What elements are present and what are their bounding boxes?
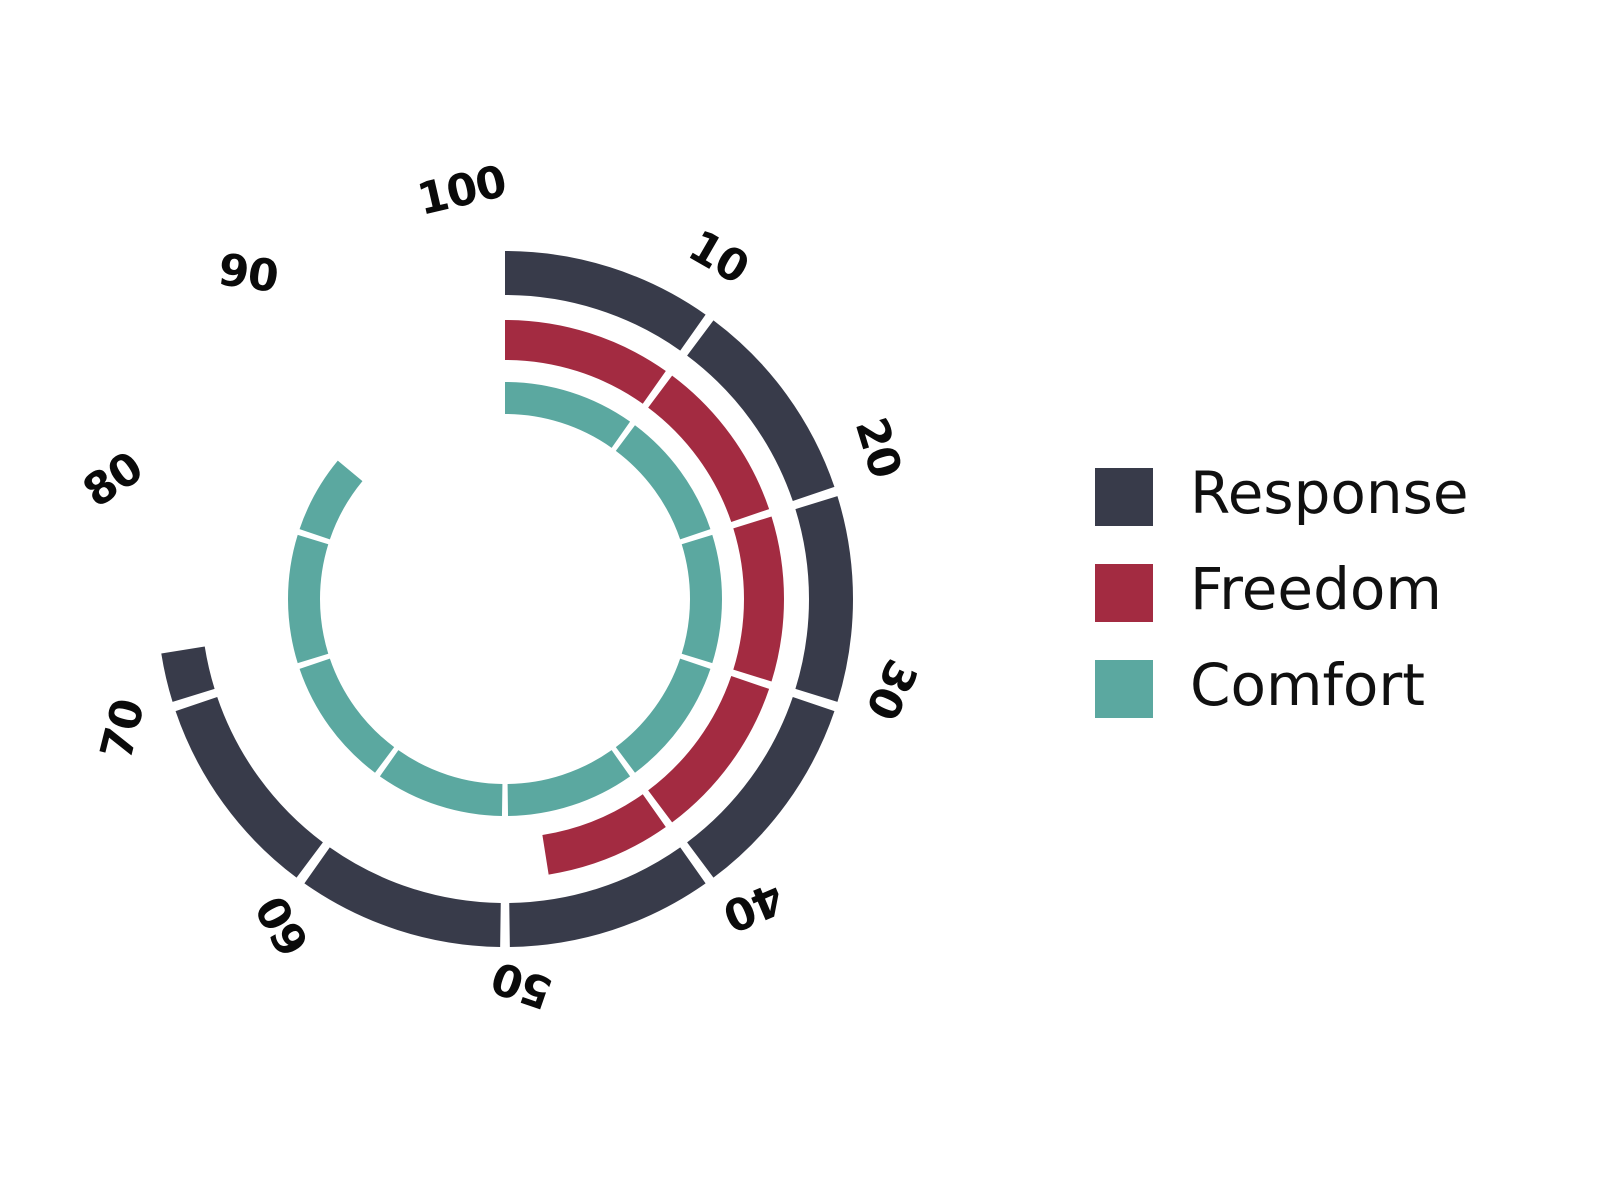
- angular-axis-tick-labels: 100102030405060708090: [74, 156, 927, 1018]
- legend-label-response: Response: [1190, 459, 1469, 527]
- axis-tick-label-60: 60: [247, 888, 320, 965]
- axis-tick-label-90: 90: [215, 244, 281, 303]
- radial-bar-segment[interactable]: [509, 847, 705, 947]
- legend-swatch-response: [1095, 468, 1153, 526]
- axis-tick-label-10: 10: [680, 221, 757, 295]
- radial-bar-segment[interactable]: [505, 382, 630, 448]
- radial-bar-segment[interactable]: [380, 750, 503, 816]
- radial-bar-segment[interactable]: [300, 461, 363, 540]
- radial-bar-segment[interactable]: [795, 496, 853, 702]
- axis-tick-label-40: 40: [716, 871, 790, 941]
- radial-bar-segment[interactable]: [733, 516, 784, 681]
- chart-legend: ResponseFreedomComfort: [1095, 459, 1469, 719]
- axis-tick-label-100: 100: [413, 156, 511, 226]
- radial-bar-segment[interactable]: [176, 697, 323, 878]
- polar-bar-chart-figure: 100102030405060708090 ResponseFreedomCom…: [0, 0, 1600, 1200]
- legend-swatch-comfort: [1095, 660, 1153, 718]
- axis-tick-label-80: 80: [74, 442, 152, 517]
- legend-item-comfort[interactable]: Comfort: [1095, 651, 1425, 719]
- axis-tick-label-20: 20: [845, 412, 911, 484]
- radial-bar-comfort[interactable]: [288, 382, 722, 816]
- radial-bar-segment[interactable]: [304, 847, 500, 947]
- legend-item-response[interactable]: Response: [1095, 459, 1469, 527]
- radial-bars-group: [161, 251, 853, 947]
- radial-bar-segment[interactable]: [161, 647, 214, 702]
- axis-tick-label-50: 50: [486, 951, 559, 1019]
- axis-tick-label-70: 70: [91, 695, 155, 765]
- axis-tick-label-30: 30: [856, 652, 927, 727]
- legend-label-freedom: Freedom: [1190, 555, 1442, 623]
- radial-bar-segment[interactable]: [508, 750, 631, 816]
- legend-swatch-freedom: [1095, 564, 1153, 622]
- radial-bar-segment[interactable]: [300, 659, 395, 773]
- radial-bar-segment[interactable]: [288, 535, 328, 663]
- legend-label-comfort: Comfort: [1190, 651, 1425, 719]
- polar-chart-canvas: 100102030405060708090 ResponseFreedomCom…: [0, 0, 1600, 1200]
- radial-bar-segment[interactable]: [682, 535, 722, 663]
- legend-item-freedom[interactable]: Freedom: [1095, 555, 1442, 623]
